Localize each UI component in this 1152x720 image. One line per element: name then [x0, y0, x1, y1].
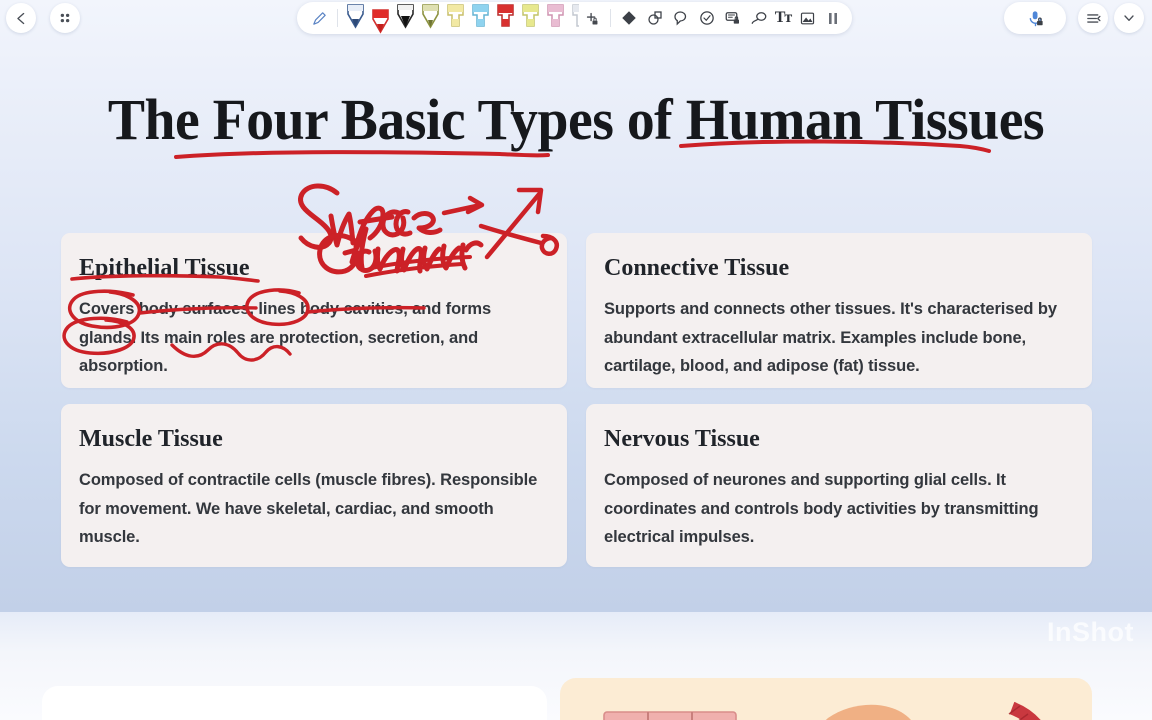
page-title: The Four Basic Types of Human Tissues	[23, 86, 1129, 153]
chevron-down-icon	[1121, 10, 1137, 26]
highlighter-blue[interactable]	[468, 2, 493, 34]
comment-lock-icon	[724, 9, 742, 27]
highlighter-extra-icon	[568, 2, 579, 34]
layers-menu-icon	[1085, 10, 1102, 27]
card-title-nervous: Nervous Tissue	[604, 426, 760, 452]
card-body-connective: Supports and connects other tissues. It'…	[604, 295, 1072, 380]
pen-icon-button[interactable]	[306, 5, 332, 31]
eraser-icon	[620, 9, 638, 27]
highlighter-blue-icon	[468, 2, 493, 34]
image-icon	[799, 10, 816, 27]
pause-icon	[826, 10, 840, 26]
connective-illustration	[815, 705, 920, 720]
add-lock-icon	[584, 10, 601, 27]
layers-menu-button[interactable]	[1078, 3, 1108, 33]
highlighter-pink[interactable]	[543, 2, 568, 34]
microphone-lock-icon	[1026, 9, 1045, 28]
lasso-icon	[750, 9, 768, 27]
lower-card-illustration[interactable]	[560, 678, 1092, 720]
epithelial-illustration	[604, 712, 736, 720]
sticker-icon	[698, 9, 716, 27]
sticker-button[interactable]	[694, 5, 720, 31]
pen-black-icon	[393, 2, 418, 34]
card-epithelial-tissue[interactable]: Epithelial Tissue Covers body surfaces, …	[61, 233, 567, 388]
pen-navy-icon	[343, 2, 368, 34]
lower-card-white[interactable]	[42, 686, 547, 720]
card-title-connective: Connective Tissue	[604, 255, 789, 281]
highlighter-red-icon	[493, 2, 518, 34]
eraser-button[interactable]	[616, 5, 642, 31]
card-nervous-tissue[interactable]: Nervous Tissue Composed of neurones and …	[586, 404, 1092, 567]
lower-slide-strip[interactable]: InShot	[0, 612, 1152, 720]
text-tool-icon: Tт	[775, 9, 792, 27]
card-title-muscle: Muscle Tissue	[79, 426, 223, 452]
highlighter-yellow[interactable]	[443, 2, 468, 34]
tissue-card-grid: Epithelial Tissue Covers body surfaces, …	[61, 233, 1092, 567]
back-button[interactable]	[6, 3, 36, 33]
shape-icon	[646, 9, 664, 27]
pen-red[interactable]	[368, 2, 393, 34]
toolbar-divider	[337, 9, 338, 27]
shape-button[interactable]	[642, 5, 668, 31]
lasso-button[interactable]	[746, 5, 772, 31]
pen-icon	[311, 10, 328, 27]
card-muscle-tissue[interactable]: Muscle Tissue Composed of contractile ce…	[61, 404, 567, 567]
annotation-toolbar[interactable]: Tт	[0, 0, 1152, 36]
card-body-epithelial: Covers body surfaces, lines body cavitie…	[79, 295, 547, 380]
pen-navy[interactable]	[343, 2, 368, 34]
highlighter-extra[interactable]	[568, 2, 579, 34]
highlighter-lime[interactable]	[518, 2, 543, 34]
toolbar-divider-2	[610, 9, 611, 27]
pen-black[interactable]	[393, 2, 418, 34]
highlighter-lime-icon	[518, 2, 543, 34]
toolbar-right-cluster	[1004, 2, 1152, 34]
card-body-nervous: Composed of neurones and supporting glia…	[604, 466, 1072, 551]
speech-bubble-icon	[672, 9, 690, 27]
tissue-illustrations	[560, 678, 1092, 720]
pause-button[interactable]	[820, 5, 846, 31]
pen-olive[interactable]	[418, 2, 443, 34]
add-lock-button[interactable]	[579, 5, 605, 31]
collapse-toolbar-button[interactable]	[1114, 3, 1144, 33]
highlighter-yellow-icon	[443, 2, 468, 34]
speech-bubble-button[interactable]	[668, 5, 694, 31]
image-button[interactable]	[794, 5, 820, 31]
comment-lock-button[interactable]	[720, 5, 746, 31]
grid-menu-button[interactable]	[50, 3, 80, 33]
card-title-epithelial: Epithelial Tissue	[79, 255, 250, 281]
pen-tool-pill[interactable]: Tт	[297, 2, 852, 34]
inshot-watermark: InShot	[1047, 617, 1134, 648]
card-body-muscle: Composed of contractile cells (muscle fi…	[79, 466, 547, 551]
mic-pill[interactable]	[1004, 2, 1066, 34]
grid-dots-icon	[58, 11, 72, 25]
back-arrow-icon	[13, 10, 30, 27]
text-tool-button[interactable]: Tт	[772, 5, 794, 31]
slide-canvas[interactable]: The Four Basic Types of Human Tissues Ep…	[0, 0, 1152, 612]
highlighter-pink-icon	[543, 2, 568, 34]
page-title-wrap: The Four Basic Types of Human Tissues	[0, 86, 1152, 153]
card-connective-tissue[interactable]: Connective Tissue Supports and connects …	[586, 233, 1092, 388]
pen-olive-icon	[418, 2, 443, 34]
pen-red-icon	[368, 7, 393, 39]
highlighter-red[interactable]	[493, 2, 518, 34]
